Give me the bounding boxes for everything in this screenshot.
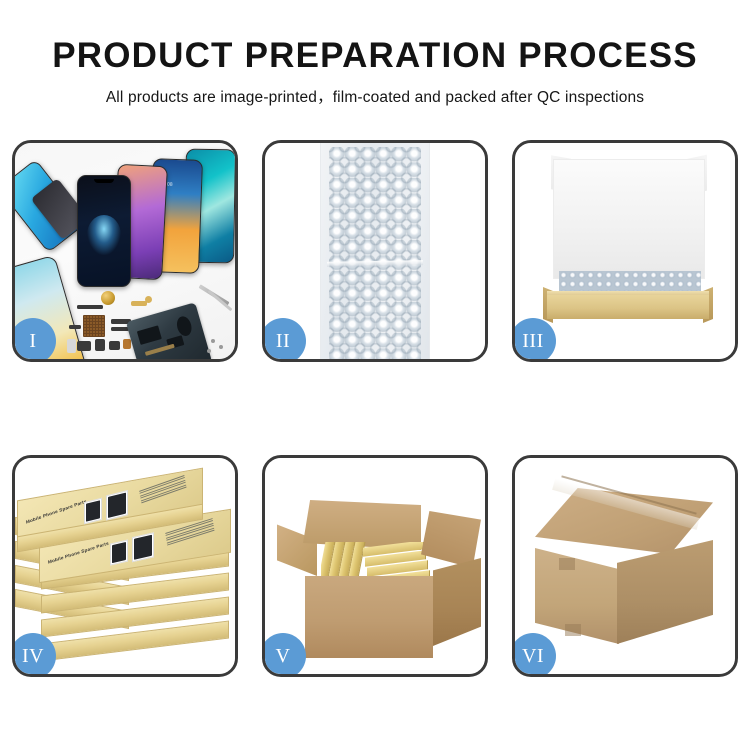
- step-panel-2: II: [262, 140, 488, 362]
- step-badge-5: V: [262, 633, 306, 677]
- step-badge-1: I: [12, 318, 56, 362]
- process-steps-grid: 08:08: [12, 140, 738, 677]
- part-earpiece-mesh: [77, 305, 103, 309]
- part-chip-a: [137, 325, 162, 345]
- product-preparation-infographic: PRODUCT PREPARATION PROCESS All products…: [0, 0, 750, 750]
- phone-wallpaper-jellyfish: [87, 215, 121, 255]
- retail-box-label-1: Mobile Phone Spare Parts: [26, 499, 87, 525]
- part-copper-trace: [145, 344, 175, 356]
- part-sim-card: [67, 339, 76, 353]
- retail-box-window-2a: [110, 539, 128, 565]
- screw-b: [219, 345, 223, 349]
- retail-box-window-1a: [84, 498, 102, 524]
- part-camera-ring: [145, 296, 152, 303]
- box-front-kraft: [547, 295, 709, 319]
- header: PRODUCT PREPARATION PROCESS All products…: [0, 0, 750, 107]
- step-badge-6: VI: [512, 633, 556, 677]
- retail-box-window-2b: [132, 532, 154, 562]
- phone-screen-black-glass: [77, 175, 131, 287]
- step-panel-5: V: [262, 455, 488, 677]
- bubble-wrap-pouch: [320, 143, 430, 359]
- bubble-pattern-secondary: [329, 147, 421, 359]
- part-screw-tray: [83, 315, 105, 337]
- part-speaker-module: [101, 291, 115, 305]
- step-badge-2: II: [262, 318, 306, 362]
- part-flex-cable-a: [131, 301, 147, 306]
- page-title: PRODUCT PREPARATION PROCESS: [0, 38, 750, 75]
- step-panel-1: 08:08: [12, 140, 238, 362]
- box-lid-white: [553, 159, 705, 279]
- step-panel-3: III: [512, 140, 738, 362]
- step-badge-3: III: [512, 318, 556, 362]
- page-subtitle: All products are image-printed，film-coat…: [0, 85, 750, 107]
- part-vibrator: [95, 339, 105, 351]
- part-camera-module: [175, 315, 194, 338]
- screw-c: [207, 349, 211, 353]
- step-panel-6: VI: [512, 455, 738, 677]
- carton-front-panel: [305, 576, 433, 658]
- phone-notch: [94, 179, 114, 183]
- step-badge-4: IV: [12, 633, 56, 677]
- sealed-carton-handle-top: [559, 558, 575, 570]
- part-taptic-engine: [77, 341, 91, 351]
- retail-box-window-1b: [106, 490, 128, 520]
- screw-a: [211, 339, 215, 343]
- part-sim-tray: [123, 339, 131, 349]
- retail-box-speclines-1: [139, 475, 187, 505]
- sealed-carton-handle-bottom: [565, 624, 581, 636]
- part-connector-a: [69, 325, 81, 329]
- step-panel-4: Mobile Phone Spare Parts Mobile Phone Sp…: [12, 455, 238, 677]
- part-speaker-box: [109, 341, 120, 350]
- part-flex-cable-c: [111, 327, 129, 331]
